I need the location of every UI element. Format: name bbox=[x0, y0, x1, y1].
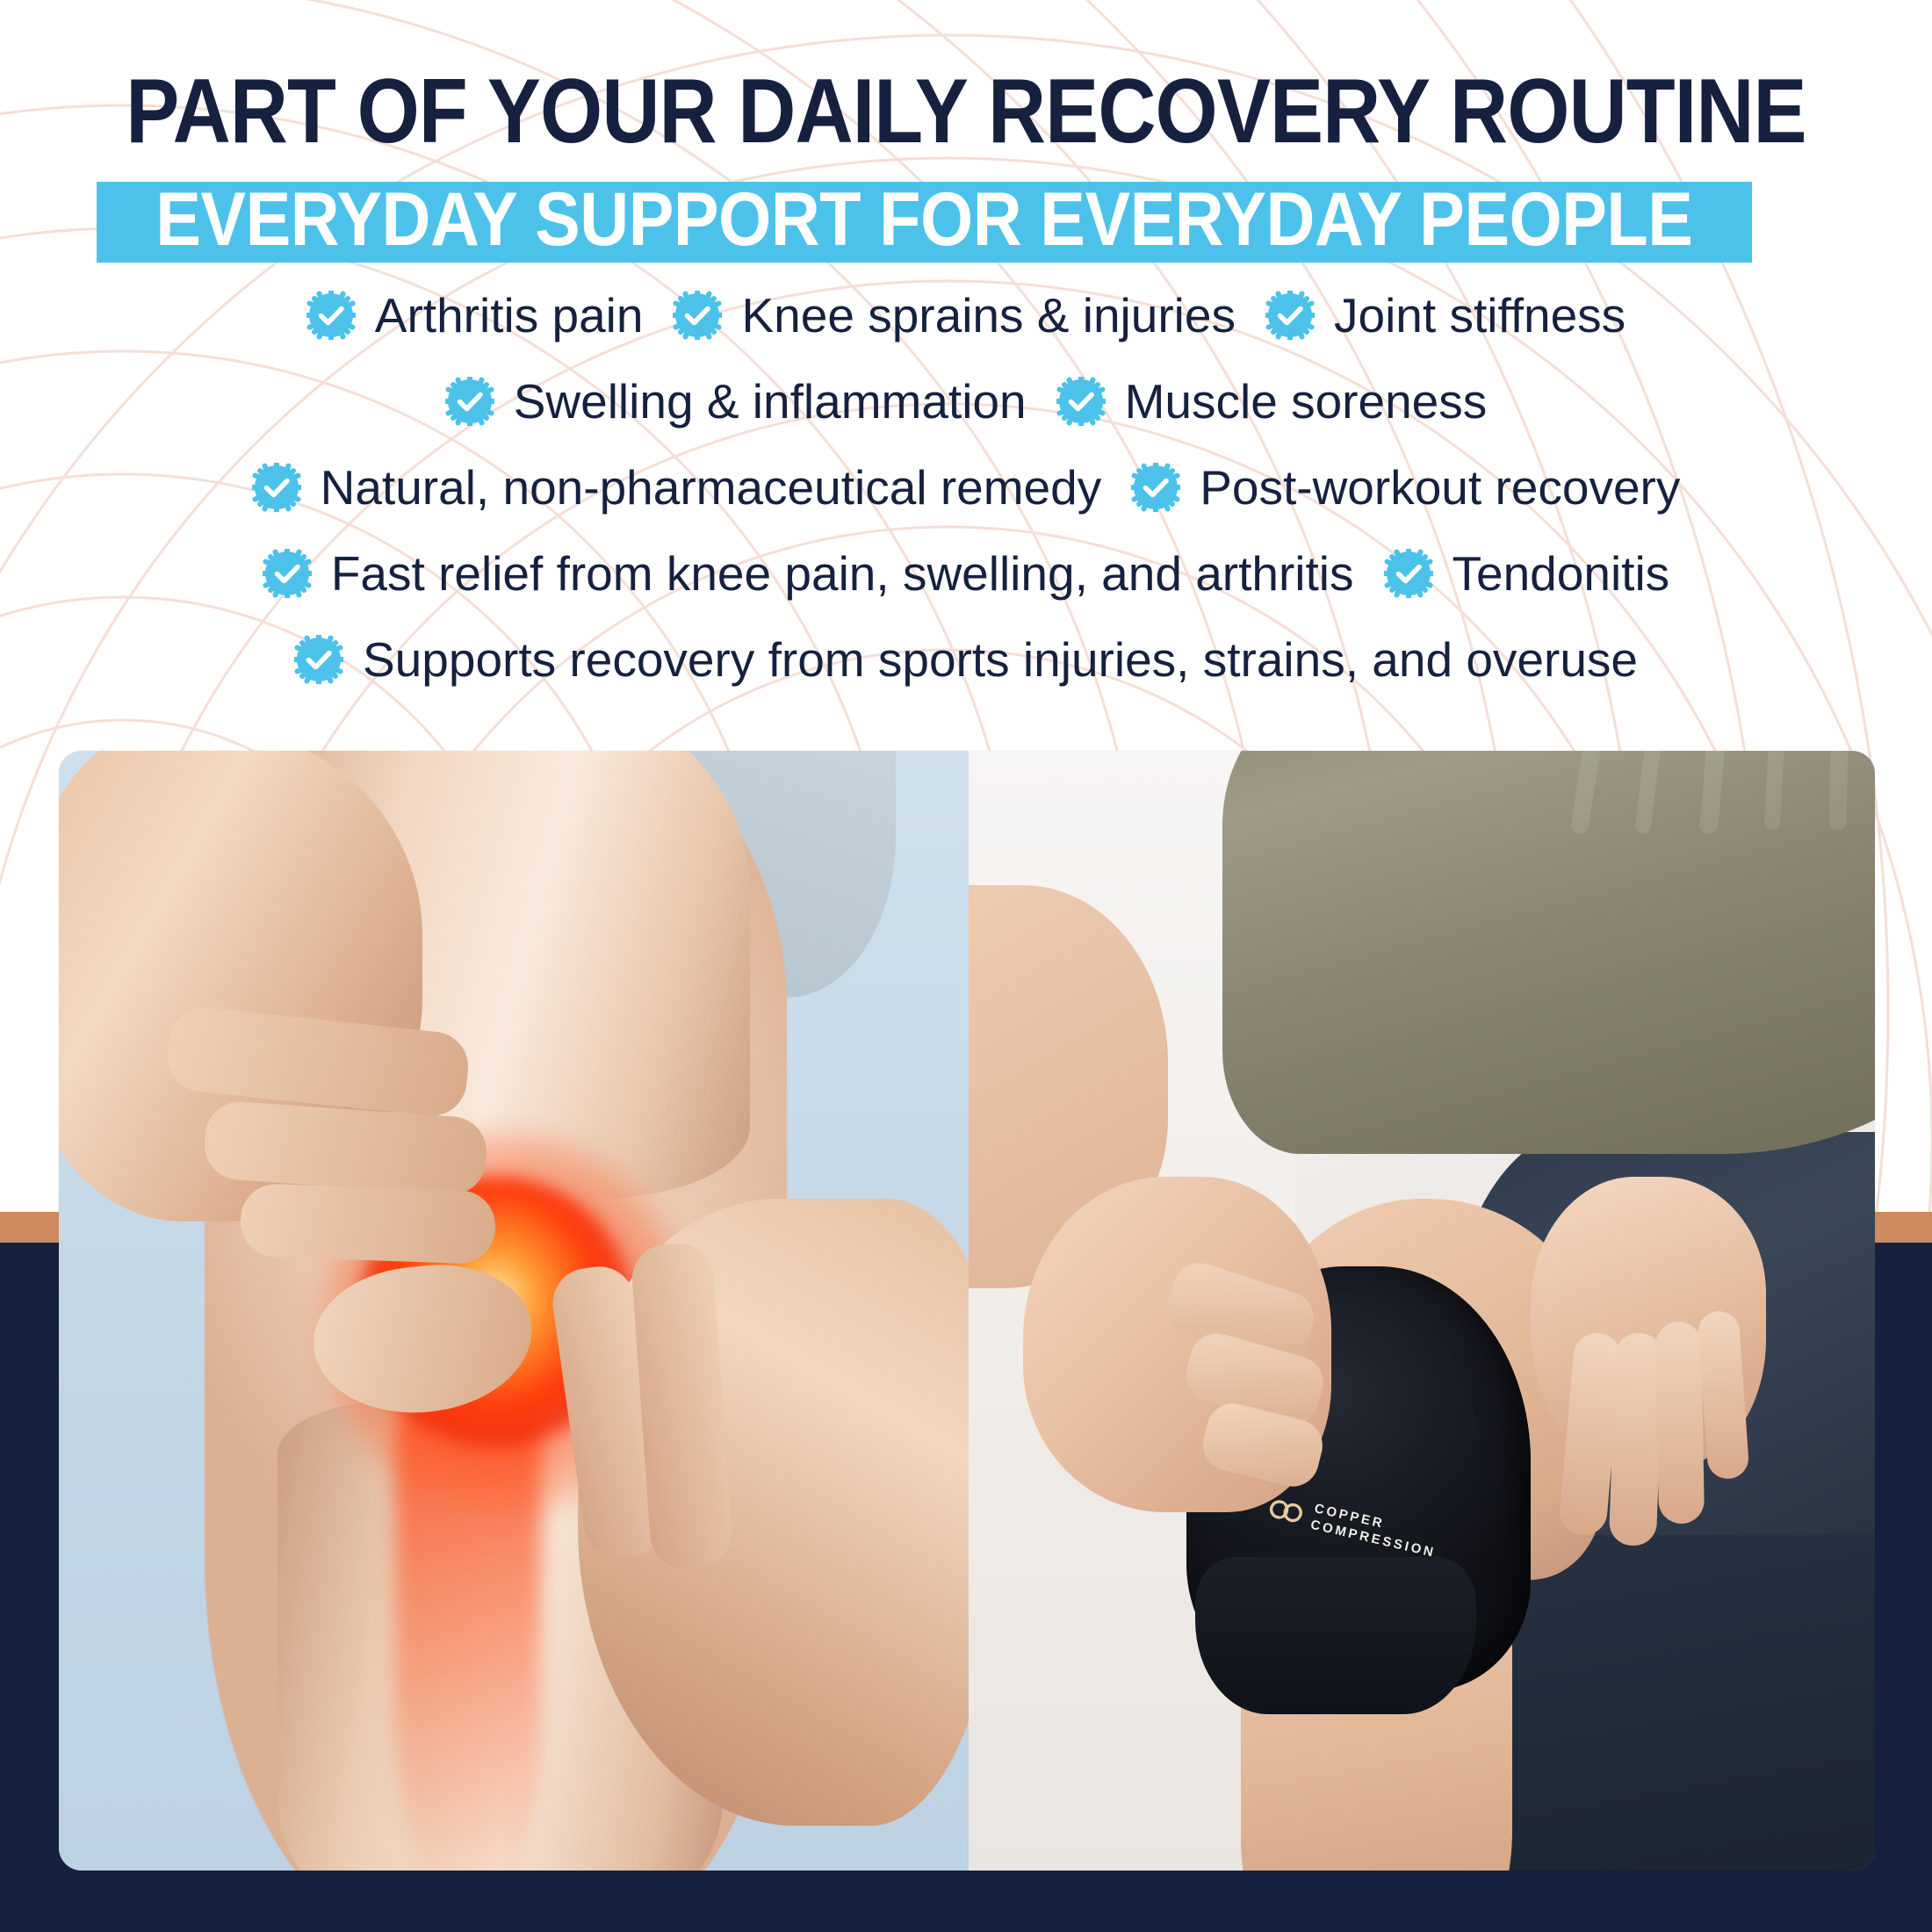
knee-sleeve-photo: COPPER COMPRESSION bbox=[969, 751, 1875, 1871]
benefit-row: Swelling & inflammation Muscle soreness bbox=[53, 367, 1879, 436]
list-item: Post-workout recovery bbox=[1131, 463, 1680, 512]
subtitle-text: EVERYDAY SUPPORT FOR EVERYDAY PEOPLE bbox=[155, 182, 1692, 257]
finger-shape bbox=[1655, 1322, 1705, 1524]
check-badge-icon bbox=[1131, 463, 1180, 512]
benefit-label: Supports recovery from sports injuries, … bbox=[363, 636, 1638, 684]
fabric-fold bbox=[1764, 751, 1787, 830]
shirt-shape bbox=[1222, 751, 1875, 1154]
benefit-label: Knee sprains & injuries bbox=[741, 292, 1236, 340]
list-item: Supports recovery from sports injuries, … bbox=[294, 635, 1638, 684]
list-item: Fast relief from knee pain, swelling, an… bbox=[263, 549, 1354, 598]
check-badge-icon bbox=[294, 635, 343, 684]
check-badge-icon bbox=[1384, 549, 1433, 598]
benefit-row: Natural, non-pharmaceutical remedy Post-… bbox=[53, 453, 1879, 522]
product-photo-card: COPPER COMPRESSION bbox=[59, 751, 1875, 1871]
check-badge-icon bbox=[445, 377, 494, 426]
check-badge-icon bbox=[252, 463, 301, 512]
benefit-row: Arthritis pain Knee sprains & injuries J… bbox=[53, 281, 1879, 350]
benefit-label: Joint stiffness bbox=[1334, 292, 1626, 340]
fabric-fold bbox=[1634, 751, 1668, 834]
benefit-label: Post-workout recovery bbox=[1200, 464, 1680, 512]
fabric-fold bbox=[1570, 751, 1609, 834]
shorts-shape bbox=[1495, 1535, 1875, 1871]
check-badge-icon bbox=[1265, 291, 1315, 340]
benefit-row: Fast relief from knee pain, swelling, an… bbox=[53, 539, 1879, 608]
finger-shape bbox=[240, 1183, 497, 1265]
fabric-fold bbox=[1699, 751, 1731, 834]
list-item: Natural, non-pharmaceutical remedy bbox=[252, 463, 1102, 512]
finger-shape bbox=[1609, 1332, 1663, 1546]
page-title: PART OF YOUR DAILY RECOVERY ROUTINE bbox=[116, 66, 1816, 157]
check-badge-icon bbox=[263, 549, 312, 598]
list-item: Arthritis pain bbox=[306, 291, 644, 340]
interlocking-rings-icon bbox=[1265, 1496, 1306, 1525]
benefit-label: Muscle soreness bbox=[1125, 378, 1488, 426]
benefit-label: Arthritis pain bbox=[375, 292, 644, 340]
knee-pain-photo bbox=[59, 751, 969, 1871]
list-item: Tendonitis bbox=[1384, 549, 1670, 598]
list-item: Knee sprains & injuries bbox=[673, 291, 1236, 340]
subtitle-banner: EVERYDAY SUPPORT FOR EVERYDAY PEOPLE bbox=[97, 182, 1752, 263]
fabric-fold bbox=[1829, 751, 1849, 830]
check-badge-icon bbox=[1056, 377, 1106, 426]
check-badge-icon bbox=[306, 291, 356, 340]
benefit-label: Swelling & inflammation bbox=[514, 378, 1027, 426]
benefit-label: Fast relief from knee pain, swelling, an… bbox=[331, 550, 1354, 598]
knee-sleeve-band bbox=[1195, 1557, 1476, 1714]
benefits-list: Arthritis pain Knee sprains & injuries J… bbox=[53, 281, 1879, 711]
benefit-label: Tendonitis bbox=[1453, 550, 1670, 598]
benefit-row: Supports recovery from sports injuries, … bbox=[53, 625, 1879, 694]
list-item: Joint stiffness bbox=[1265, 291, 1626, 340]
check-badge-icon bbox=[673, 291, 722, 340]
list-item: Muscle soreness bbox=[1056, 377, 1488, 426]
list-item: Swelling & inflammation bbox=[445, 377, 1027, 426]
benefit-label: Natural, non-pharmaceutical remedy bbox=[321, 464, 1102, 512]
